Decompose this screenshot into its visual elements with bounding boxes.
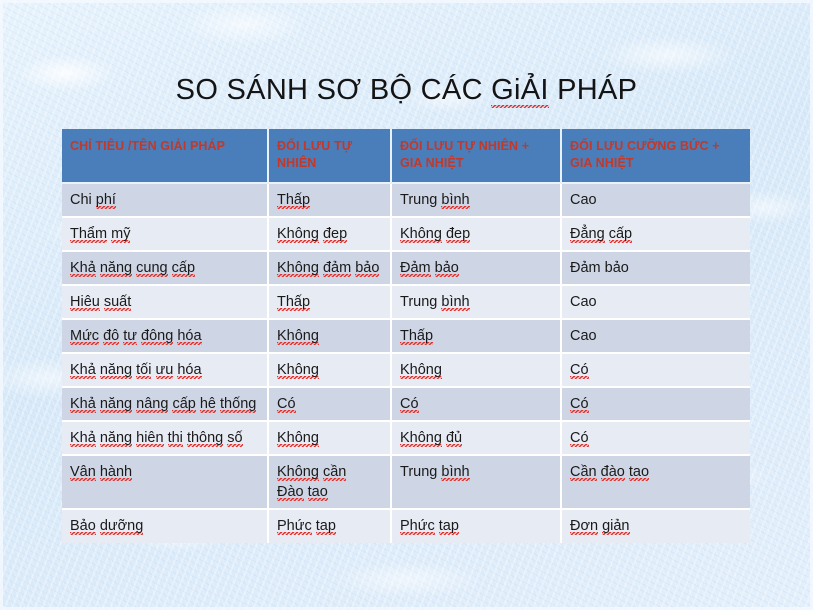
cell-criterion: Chi phí — [62, 184, 269, 218]
cell-natural-heat: Đảm bảo — [392, 252, 562, 286]
cell-forced-heat: Đơn giản — [562, 510, 750, 543]
cell-criterion: Khả năng nâng cấp hê thống — [62, 388, 269, 422]
table-row: Chi phíThấpTrung bìnhCao — [62, 184, 750, 218]
table-header-row: CHỈ TIÊU /TÊN GIẢI PHÁP ĐỐI LƯU TỰ NHIÊN… — [62, 129, 750, 184]
cell-natural: Không — [269, 354, 392, 388]
column-header-forced-heat: ĐỐI LƯU CƯỠNG BỨC + GIA NHIỆT — [562, 129, 750, 184]
cell-criterion: Hiêu suất — [62, 286, 269, 320]
cell-natural: Thấp — [269, 286, 392, 320]
cell-forced-heat: Cao — [562, 286, 750, 320]
cell-criterion: Khả năng cung cấp — [62, 252, 269, 286]
cell-criterion: Khả năng tối ưu hóa — [62, 354, 269, 388]
table-row: Vân hànhKhông cầnĐào taoTrung bìnhCần đà… — [62, 456, 750, 510]
cell-natural-heat: Trung bình — [392, 184, 562, 218]
cell-natural-heat: Có — [392, 388, 562, 422]
cell-natural: Không đảm bảo — [269, 252, 392, 286]
slide-canvas: SO SÁNH SƠ BỘ CÁC GiẢI PHÁP CHỈ TIÊU /TÊ… — [0, 0, 813, 610]
cell-criterion: Khả năng hiên thi thông số — [62, 422, 269, 456]
cell-natural: Không — [269, 320, 392, 354]
cell-natural: Phức tap — [269, 510, 392, 543]
cell-natural-heat: Thấp — [392, 320, 562, 354]
column-header-criterion: CHỈ TIÊU /TÊN GIẢI PHÁP — [62, 129, 269, 184]
table-row: Mức đô tư đông hóaKhôngThấpCao — [62, 320, 750, 354]
cell-criterion: Thẩm mỹ — [62, 218, 269, 252]
table-row: Thẩm mỹKhông đepKhông đepĐẳng cấp — [62, 218, 750, 252]
cell-forced-heat: Cao — [562, 320, 750, 354]
cell-natural: Không cầnĐào tao — [269, 456, 392, 510]
comparison-table: CHỈ TIÊU /TÊN GIẢI PHÁP ĐỐI LƯU TỰ NHIÊN… — [62, 129, 750, 543]
cell-natural-heat: Không đủ — [392, 422, 562, 456]
column-header-natural: ĐỐI LƯU TỰ NHIÊN — [269, 129, 392, 184]
cell-natural-heat: Trung bình — [392, 456, 562, 510]
column-header-natural-heat: ĐỐI LƯU TỰ NHIÊN + GIA NHIỆT — [392, 129, 562, 184]
cell-natural: Có — [269, 388, 392, 422]
cell-criterion: Mức đô tư đông hóa — [62, 320, 269, 354]
cell-forced-heat: Cao — [562, 184, 750, 218]
table-row: Khả năng hiên thi thông sốKhôngKhông đủC… — [62, 422, 750, 456]
page-title-text: SO SÁNH SƠ BỘ CÁC GiẢI PHÁP — [176, 74, 638, 108]
cell-criterion: Vân hành — [62, 456, 269, 510]
table-row: Khả năng nâng cấp hê thốngCóCóCó — [62, 388, 750, 422]
cell-natural-heat: Phức tap — [392, 510, 562, 543]
cell-natural-heat: Trung bình — [392, 286, 562, 320]
cell-natural: Không — [269, 422, 392, 456]
table-row: Khả năng tối ưu hóaKhôngKhôngCó — [62, 354, 750, 388]
cell-forced-heat: Có — [562, 354, 750, 388]
table-row: Bảo dưỡngPhức tapPhức tapĐơn giản — [62, 510, 750, 543]
cell-natural: Thấp — [269, 184, 392, 218]
cell-forced-heat: Đẳng cấp — [562, 218, 750, 252]
cell-natural: Không đep — [269, 218, 392, 252]
cell-natural-heat: Không đep — [392, 218, 562, 252]
cell-criterion: Bảo dưỡng — [62, 510, 269, 543]
cell-forced-heat: Có — [562, 388, 750, 422]
cell-forced-heat: Đảm bảo — [562, 252, 750, 286]
cell-forced-heat: Có — [562, 422, 750, 456]
page-title: SO SÁNH SƠ BỘ CÁC GiẢI PHÁP — [0, 72, 813, 108]
table-body: Chi phíThấpTrung bìnhCaoThẩm mỹKhông đep… — [62, 184, 750, 543]
cell-natural-heat: Không — [392, 354, 562, 388]
table-row: Hiêu suấtThấpTrung bìnhCao — [62, 286, 750, 320]
table-header: CHỈ TIÊU /TÊN GIẢI PHÁP ĐỐI LƯU TỰ NHIÊN… — [62, 129, 750, 184]
table-row: Khả năng cung cấpKhông đảm bảoĐảm bảoĐảm… — [62, 252, 750, 286]
cell-forced-heat: Cần đào tao — [562, 456, 750, 510]
